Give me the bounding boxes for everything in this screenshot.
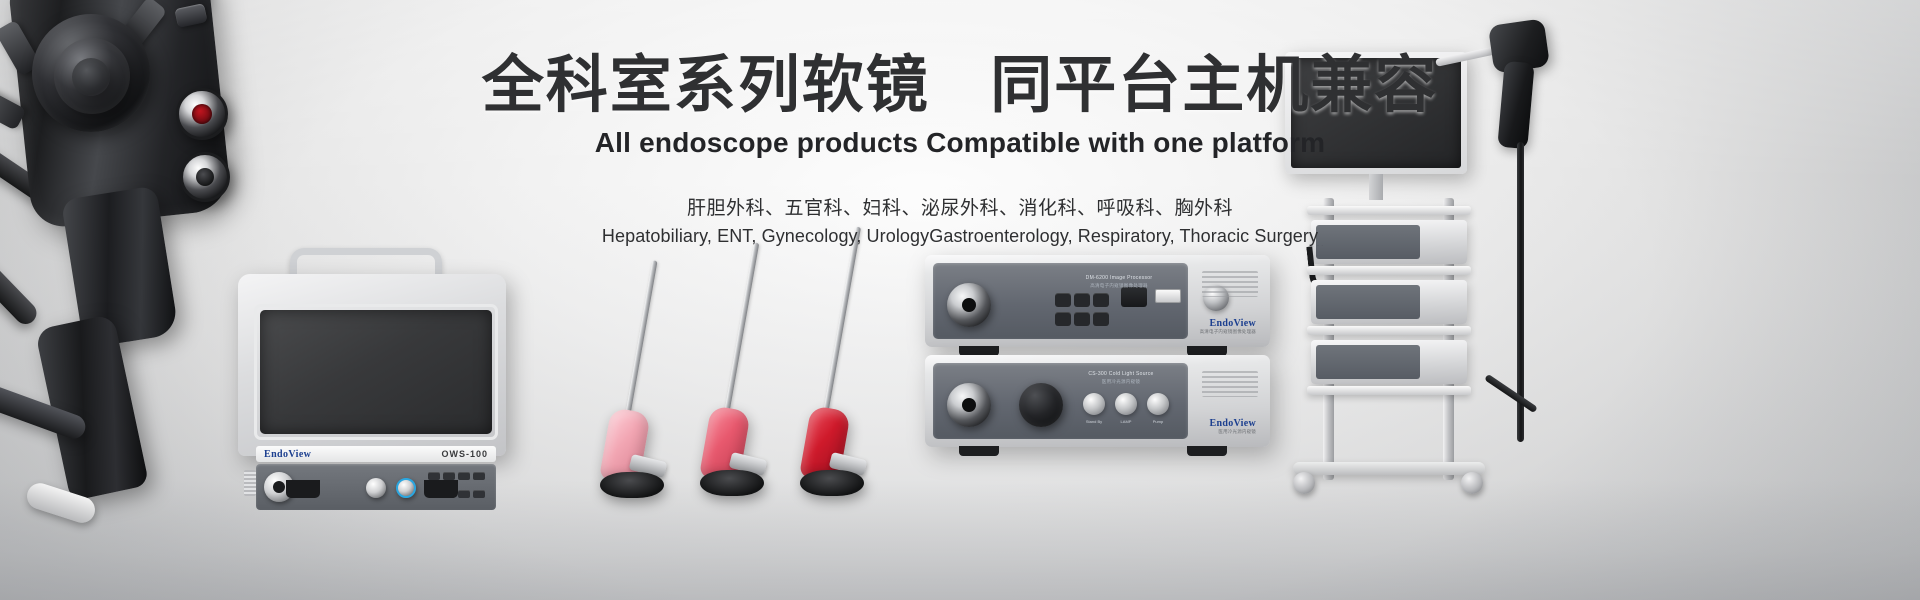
banner-text-block: 全科室系列软镜 同平台主机兼容 All endoscope products C… xyxy=(0,52,1920,247)
processor-brand-label: EndoView xyxy=(1200,318,1256,329)
cart-wheel-right xyxy=(1461,472,1483,494)
workstation-key xyxy=(458,472,470,480)
image-processor-unit: DM-6200 Image Processor 高清电子内窥镜图像处理器 End… xyxy=(925,255,1270,347)
portable-workstation-ows100: EndoView OWS-100 xyxy=(238,248,506,480)
processor-display-window xyxy=(1121,287,1147,307)
light-source-brand-block: EndoView 医用冷光源内窥镜 xyxy=(1210,418,1256,435)
processor-key xyxy=(1055,293,1071,307)
light-source-model-text: CS-300 Cold Light Source xyxy=(1088,371,1153,377)
instrument-shaft xyxy=(722,242,759,426)
workstation-key xyxy=(428,472,440,480)
processor-key xyxy=(1074,293,1090,307)
page-title: 全科室系列软镜 同平台主机兼容 xyxy=(0,52,1920,120)
cart-shelf-3 xyxy=(1307,326,1471,335)
light-source-model-label: CS-300 Cold Light Source 医用冷光源内窥镜 xyxy=(1065,371,1177,385)
workstation-foot-left xyxy=(286,480,320,498)
light-source-button-pump xyxy=(1147,393,1169,415)
light-source-front-panel: Stand By LAMP Pump CS-300 Cold Light Sou… xyxy=(933,363,1188,439)
workstation-label-bar: EndoView OWS-100 xyxy=(256,446,496,462)
cart-shelf-2 xyxy=(1307,266,1471,275)
processor-key xyxy=(1055,312,1071,326)
instrument-base-stand xyxy=(800,470,864,496)
light-source-foot-left xyxy=(959,446,999,456)
cart-wheel-left xyxy=(1293,472,1315,494)
light-source-button-label-lamp: LAMP xyxy=(1115,419,1137,424)
cart-device-3 xyxy=(1311,340,1467,384)
workstation-screen-bezel xyxy=(254,304,498,440)
light-source-button-standby xyxy=(1083,393,1105,415)
headline-segment-1: 全科室系列软镜 xyxy=(482,51,930,120)
workstation-brand-label: EndoView xyxy=(264,449,311,460)
processor-model-subtext: 高清电子内窥镜图像处理器 xyxy=(1059,283,1179,290)
light-source-brand-subtitle: 医用冷光源内窥镜 xyxy=(1210,429,1256,435)
processor-key xyxy=(1093,293,1109,307)
instrument-shaft xyxy=(822,227,861,421)
processor-brand-block: EndoView 高清电子内窥镜图像处理器 xyxy=(1200,318,1256,335)
cart-device-2 xyxy=(1311,280,1467,324)
processor-key xyxy=(1074,312,1090,326)
processor-front-panel: DM-6200 Image Processor 高清电子内窥镜图像处理器 xyxy=(933,263,1188,339)
workstation-port-highlighted xyxy=(396,478,416,498)
cart-device-3-panel xyxy=(1316,345,1420,379)
light-source-model-subtext: 医用冷光源内窥镜 xyxy=(1065,379,1177,386)
processor-key xyxy=(1093,312,1109,326)
light-source-foot-right xyxy=(1187,446,1227,456)
light-source-brand-label: EndoView xyxy=(1210,418,1256,429)
workstation-key xyxy=(473,472,485,480)
light-source-button-label-pump: Pump xyxy=(1147,419,1169,424)
processor-keypad xyxy=(1055,293,1111,327)
cart-base xyxy=(1293,462,1485,475)
light-source-vent-grill xyxy=(1202,371,1258,397)
workstation-key xyxy=(473,490,485,498)
workstation-port-secondary xyxy=(366,478,386,498)
workstation-vent-grill xyxy=(244,470,256,496)
processor-usb-port xyxy=(1155,289,1181,303)
instrument-base-stand xyxy=(600,472,664,498)
banner-subheadline: All endoscope products Compatible with o… xyxy=(0,127,1920,159)
promo-banner: EndoView OWS-100 xyxy=(0,0,1920,600)
processor-model-text: DM-6200 Image Processor xyxy=(1086,275,1153,281)
processor-scope-connector xyxy=(947,283,991,327)
cold-light-source-unit: Stand By LAMP Pump CS-300 Cold Light Sou… xyxy=(925,355,1270,447)
workstation-case: EndoView OWS-100 xyxy=(238,274,506,456)
departments-english: Hepatobiliary, ENT, Gynecology, UrologyG… xyxy=(0,226,1920,247)
endoscopy-equipment-stack: DM-6200 Image Processor 高清电子内窥镜图像处理器 End… xyxy=(925,255,1270,460)
cart-shelf-4 xyxy=(1307,386,1471,395)
workstation-model-label: OWS-100 xyxy=(441,449,488,459)
processor-vent-grill xyxy=(1202,271,1258,297)
processor-model-label: DM-6200 Image Processor 高清电子内窥镜图像处理器 xyxy=(1059,275,1179,289)
light-source-fiber-connector xyxy=(947,383,991,427)
cart-endoscope-tube-tip xyxy=(1484,374,1538,413)
light-source-button-lamp xyxy=(1115,393,1137,415)
light-source-button-label-standby: Stand By xyxy=(1083,419,1105,424)
workstation-foot-right xyxy=(424,480,458,498)
instrument-base-stand xyxy=(700,470,764,496)
light-source-brightness-knob xyxy=(1019,383,1063,427)
departments-chinese: 肝胆外科、五官科、妇科、泌尿外科、消化科、呼吸科、胸外科 xyxy=(0,193,1920,220)
headline-segment-2: 同平台主机兼容 xyxy=(990,51,1438,120)
workstation-key xyxy=(443,472,455,480)
instrument-shaft xyxy=(622,260,657,434)
cart-device-2-panel xyxy=(1316,285,1420,319)
workstation-key xyxy=(458,490,470,498)
processor-brand-subtitle: 高清电子内窥镜图像处理器 xyxy=(1200,329,1256,335)
